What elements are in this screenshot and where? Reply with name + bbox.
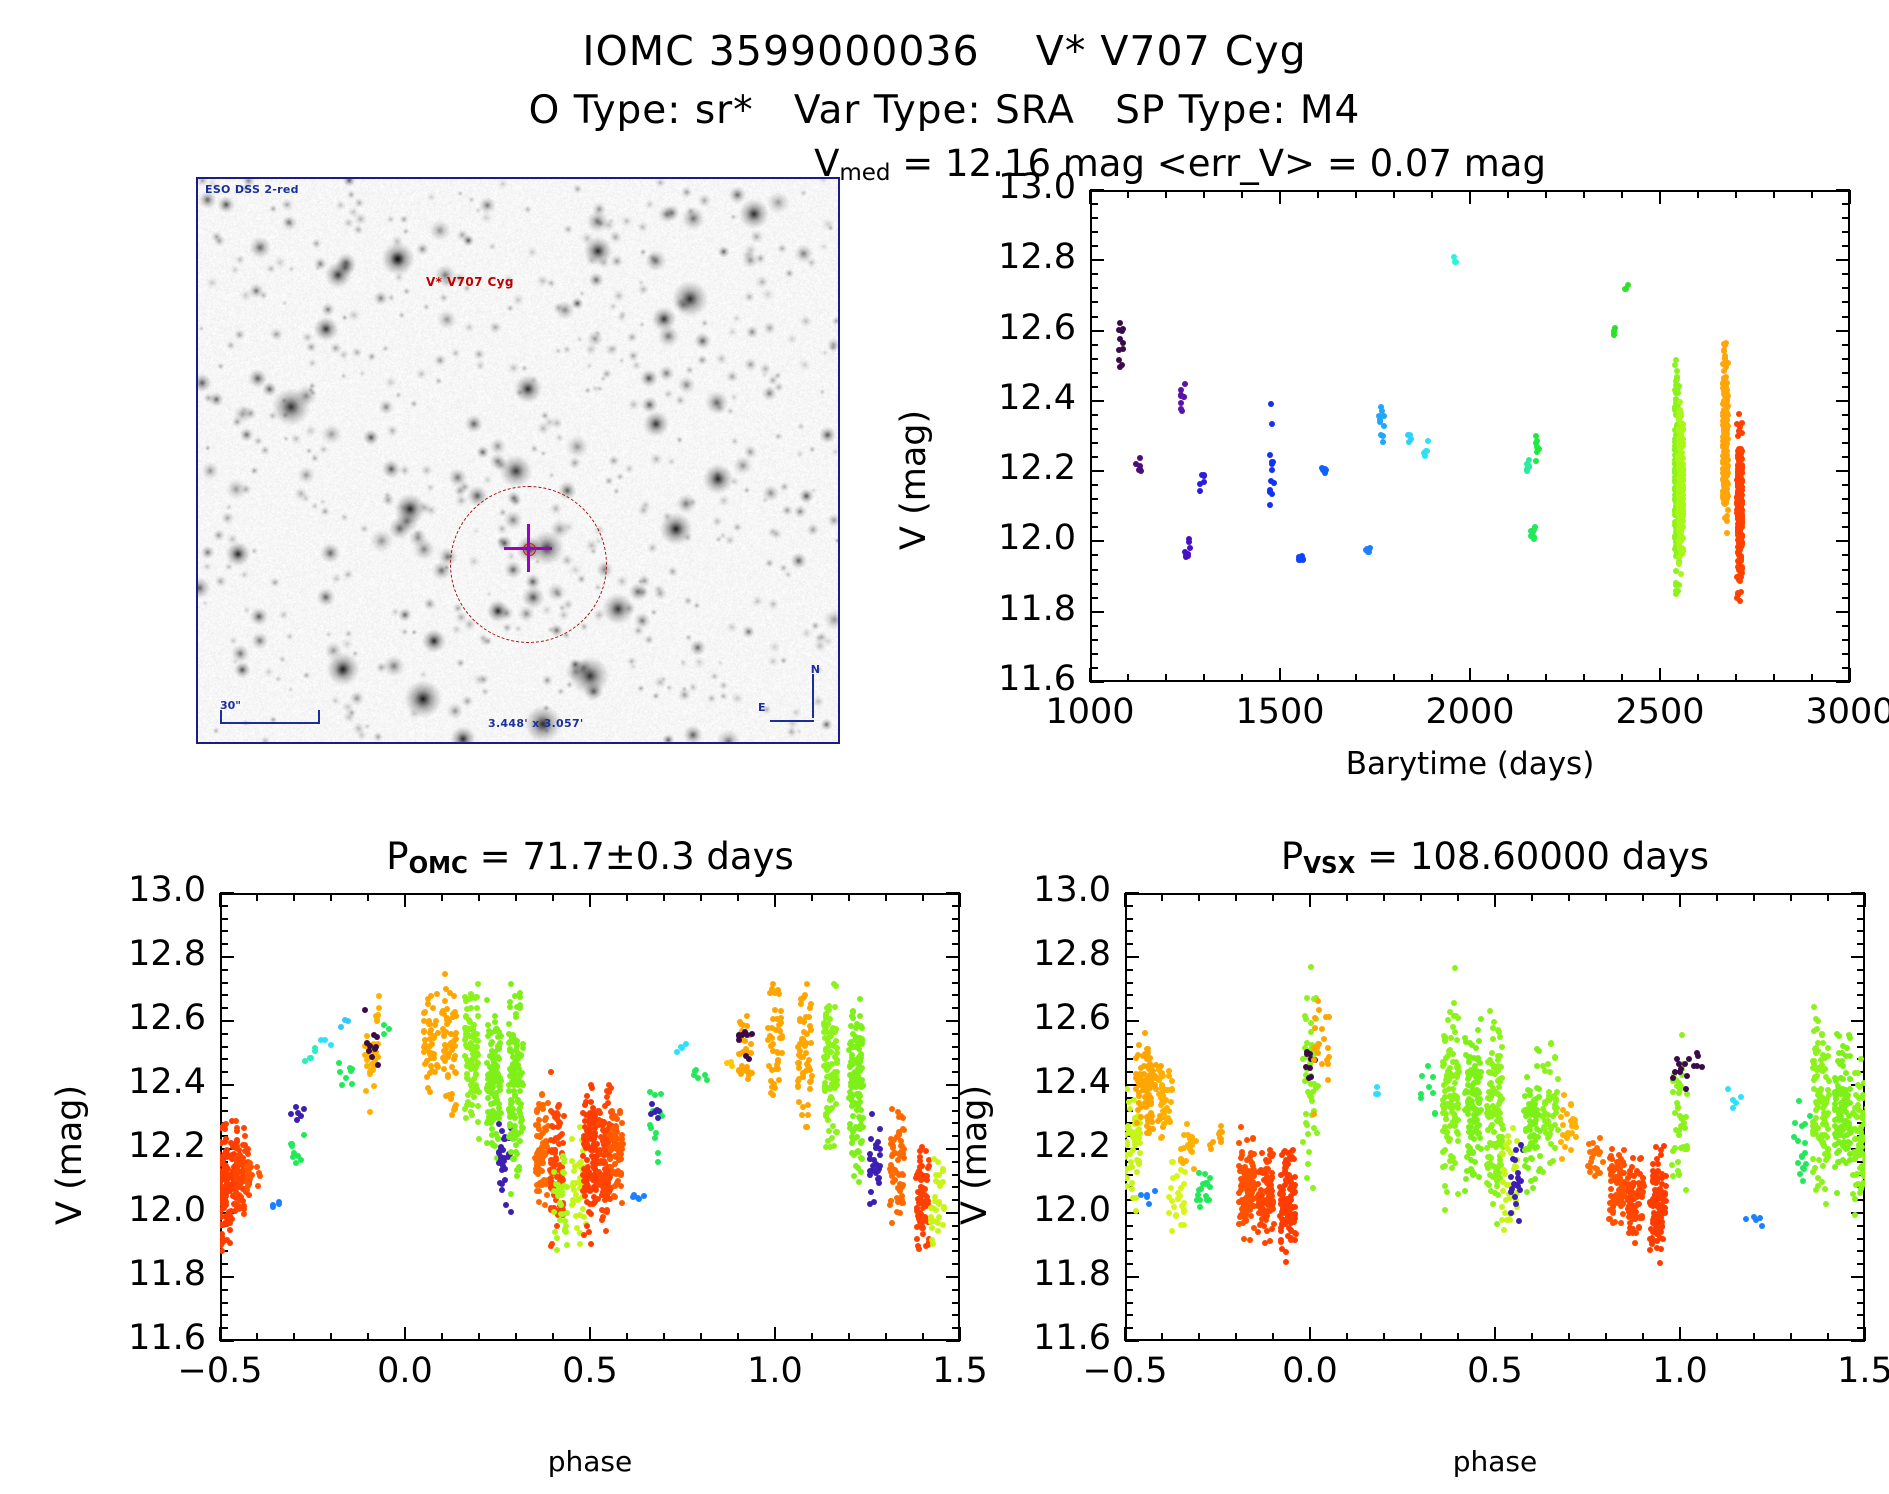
data-point xyxy=(724,1060,730,1066)
data-point xyxy=(1267,1152,1273,1158)
data-point xyxy=(796,1052,802,1058)
data-point xyxy=(1304,1175,1310,1181)
data-point xyxy=(1494,1183,1500,1189)
data-point xyxy=(823,1013,829,1019)
data-point xyxy=(778,1015,784,1021)
data-point xyxy=(1266,1185,1272,1191)
data-point xyxy=(1326,1054,1332,1060)
data-point xyxy=(857,1068,863,1074)
data-point xyxy=(571,1187,577,1193)
data-point-layer xyxy=(1090,190,1850,682)
data-point xyxy=(1286,1225,1292,1231)
data-point xyxy=(772,1007,778,1013)
data-point xyxy=(1315,998,1321,1004)
data-point xyxy=(1476,1174,1482,1180)
data-point xyxy=(1270,1199,1276,1205)
data-point xyxy=(875,1168,881,1174)
data-point xyxy=(227,1227,233,1233)
compass-east-label: E xyxy=(758,701,766,714)
data-point xyxy=(1531,536,1537,542)
data-point xyxy=(1452,1120,1458,1126)
data-point xyxy=(1736,411,1742,417)
data-point xyxy=(1196,1170,1202,1176)
data-point xyxy=(488,1101,494,1107)
data-point xyxy=(1660,1236,1666,1242)
data-point xyxy=(1634,1202,1640,1208)
data-point xyxy=(1148,1101,1154,1107)
data-point xyxy=(1490,1036,1496,1042)
data-point xyxy=(1724,518,1730,524)
data-point xyxy=(918,1177,924,1183)
phase-omc-title-prefix: P xyxy=(386,835,408,878)
data-point xyxy=(1432,1111,1438,1117)
data-point xyxy=(507,1114,513,1120)
data-point xyxy=(1303,1111,1309,1117)
data-point xyxy=(516,1066,522,1072)
data-point xyxy=(573,1213,579,1219)
data-point xyxy=(517,1138,523,1144)
data-point xyxy=(1495,1068,1501,1074)
data-point xyxy=(514,1173,520,1179)
data-point xyxy=(1307,1051,1313,1057)
data-point xyxy=(475,981,481,987)
data-point xyxy=(561,1113,567,1119)
x-axis-tick-label: 0.5 xyxy=(1415,1351,1575,1391)
data-point xyxy=(1325,1077,1331,1083)
data-point xyxy=(1321,1036,1327,1042)
data-point xyxy=(1144,1089,1150,1095)
data-point xyxy=(1168,1099,1174,1105)
data-point xyxy=(829,1096,835,1102)
data-point xyxy=(1444,1079,1450,1085)
data-point xyxy=(342,1017,348,1023)
data-point xyxy=(876,1175,882,1181)
x-axis-tick-label: 0.0 xyxy=(1230,1351,1390,1391)
data-point xyxy=(1545,1061,1551,1067)
data-point xyxy=(220,1238,226,1244)
data-point xyxy=(558,1190,564,1196)
data-point xyxy=(1189,1141,1195,1147)
data-point xyxy=(1526,457,1532,463)
y-axis-tick-label: 12.4 xyxy=(880,378,1076,418)
data-point xyxy=(1166,1210,1172,1216)
data-point xyxy=(652,1109,658,1115)
data-point xyxy=(1442,1147,1448,1153)
data-point xyxy=(1609,1146,1615,1152)
data-point xyxy=(434,991,440,997)
data-point xyxy=(806,1014,812,1020)
data-point xyxy=(1126,1099,1132,1105)
data-point xyxy=(850,1136,856,1142)
data-point xyxy=(1658,1152,1664,1158)
data-point xyxy=(832,1004,838,1010)
page-title: IOMC 3599000036 V* V707 Cyg xyxy=(0,20,1889,82)
data-point xyxy=(427,1070,433,1076)
data-point xyxy=(467,1019,473,1025)
data-point xyxy=(338,1024,344,1030)
data-point xyxy=(1127,1106,1133,1112)
data-point xyxy=(536,1199,542,1205)
data-point xyxy=(1268,478,1274,484)
data-point xyxy=(540,1130,546,1136)
data-point xyxy=(736,1051,742,1057)
data-point xyxy=(804,1124,810,1130)
data-point xyxy=(425,1085,431,1091)
data-point xyxy=(1283,1259,1289,1265)
data-point xyxy=(510,1054,516,1060)
data-point xyxy=(1676,409,1682,415)
data-point xyxy=(1486,1182,1492,1188)
data-point xyxy=(1455,1138,1461,1144)
data-point xyxy=(1721,368,1727,374)
data-point xyxy=(1325,1045,1331,1051)
data-point xyxy=(1246,1182,1252,1188)
data-point xyxy=(1524,1074,1530,1080)
data-point xyxy=(301,1106,307,1112)
data-point xyxy=(1447,1123,1453,1129)
data-point xyxy=(1542,1126,1548,1132)
data-point xyxy=(583,1112,589,1118)
data-point xyxy=(367,1071,373,1077)
data-point xyxy=(619,1120,625,1126)
data-point xyxy=(858,1107,864,1113)
data-point xyxy=(519,1117,525,1123)
data-point xyxy=(233,1177,239,1183)
data-point xyxy=(487,1053,493,1059)
data-point xyxy=(1737,557,1743,563)
data-point xyxy=(508,981,514,987)
data-point xyxy=(856,1179,862,1185)
data-point xyxy=(1197,488,1203,494)
data-point xyxy=(1136,1042,1142,1048)
data-point xyxy=(1448,1035,1454,1041)
data-point xyxy=(898,1113,904,1119)
data-point xyxy=(1586,1141,1592,1147)
data-point xyxy=(1132,1142,1138,1148)
data-point xyxy=(571,1168,577,1174)
data-point xyxy=(469,1088,475,1094)
data-point xyxy=(807,1005,813,1011)
data-point xyxy=(1312,1025,1318,1031)
data-point xyxy=(1487,1154,1493,1160)
data-point xyxy=(1302,1013,1308,1019)
data-point xyxy=(485,1022,491,1028)
data-point xyxy=(515,1097,521,1103)
data-point xyxy=(1679,551,1685,557)
data-point xyxy=(1264,1228,1270,1234)
data-point xyxy=(770,1092,776,1098)
data-point xyxy=(825,1109,831,1115)
data-point xyxy=(1559,1156,1565,1162)
data-point xyxy=(1499,1075,1505,1081)
data-point xyxy=(1640,1180,1646,1186)
data-point xyxy=(1306,1149,1312,1155)
data-point xyxy=(492,1013,498,1019)
data-point xyxy=(1505,1133,1511,1139)
data-point xyxy=(1168,1185,1174,1191)
data-point xyxy=(606,1176,612,1182)
data-point xyxy=(736,1033,742,1039)
data-point xyxy=(1159,1082,1165,1088)
data-point xyxy=(1572,1117,1578,1123)
data-point xyxy=(1292,1189,1298,1195)
data-point xyxy=(550,1124,556,1130)
data-point xyxy=(1677,399,1683,405)
data-point xyxy=(1308,964,1314,970)
data-point xyxy=(1674,368,1680,374)
data-point xyxy=(807,1086,813,1092)
data-point xyxy=(1117,336,1123,342)
data-point xyxy=(1375,1091,1381,1097)
data-point xyxy=(914,1236,920,1242)
x-axis-tick-label: 0.5 xyxy=(510,1351,670,1391)
data-point xyxy=(800,1074,806,1080)
data-point xyxy=(1488,1094,1494,1100)
target-marker-icon xyxy=(523,543,536,556)
data-point xyxy=(858,1140,864,1146)
data-point xyxy=(489,1090,495,1096)
data-point xyxy=(1454,1037,1460,1043)
data-point xyxy=(255,1183,261,1189)
data-point xyxy=(449,1112,455,1118)
data-point xyxy=(1130,1195,1136,1201)
data-point xyxy=(590,1175,596,1181)
compass-rose-icon: N E xyxy=(762,666,822,728)
data-point xyxy=(857,996,863,1002)
data-point xyxy=(1523,1108,1529,1114)
data-point xyxy=(484,997,490,1003)
data-point xyxy=(1610,1220,1616,1226)
data-point xyxy=(421,1010,427,1016)
data-point xyxy=(1300,1139,1306,1145)
data-point xyxy=(233,1118,239,1124)
data-point xyxy=(924,1177,930,1183)
data-point xyxy=(1524,1189,1530,1195)
data-point xyxy=(581,1214,587,1220)
data-point xyxy=(825,1138,831,1144)
data-point xyxy=(453,1030,459,1036)
data-point xyxy=(889,1106,895,1112)
data-point xyxy=(1236,1190,1242,1196)
data-point xyxy=(1735,481,1741,487)
data-point xyxy=(1564,1135,1570,1141)
data-point xyxy=(543,1115,549,1121)
data-point xyxy=(1405,432,1411,438)
data-point xyxy=(1158,1095,1164,1101)
data-point xyxy=(1501,1227,1507,1233)
data-point xyxy=(1507,1217,1513,1223)
data-point xyxy=(516,1167,522,1173)
field-size-label: 3.448' x 3.057' xyxy=(488,717,584,730)
data-point xyxy=(1125,1152,1129,1158)
data-point xyxy=(1475,1027,1481,1033)
data-point xyxy=(1181,1132,1187,1138)
data-point xyxy=(1240,1212,1246,1218)
data-point xyxy=(833,983,839,989)
data-point xyxy=(1466,1059,1472,1065)
data-point xyxy=(1534,449,1540,455)
data-point xyxy=(1278,1172,1284,1178)
data-point xyxy=(1129,1180,1135,1186)
data-point xyxy=(560,1184,566,1190)
data-point xyxy=(1133,1055,1139,1061)
data-point xyxy=(490,1078,496,1084)
data-point xyxy=(520,1082,526,1088)
data-point xyxy=(825,1117,831,1123)
data-point xyxy=(1512,1157,1518,1163)
data-point xyxy=(877,1126,883,1132)
data-point xyxy=(560,1169,566,1175)
data-point xyxy=(1288,1197,1294,1203)
data-point xyxy=(612,1161,618,1167)
data-point xyxy=(488,1120,494,1126)
data-point xyxy=(1600,1159,1606,1165)
data-point xyxy=(1723,415,1729,421)
data-point xyxy=(1175,1196,1181,1202)
scale-bar-icon xyxy=(220,710,320,724)
data-point xyxy=(1608,1186,1614,1192)
data-point xyxy=(937,1181,943,1187)
data-point xyxy=(517,1073,523,1079)
data-point xyxy=(1269,421,1275,427)
data-point xyxy=(1676,561,1682,567)
data-point xyxy=(1597,1135,1603,1141)
data-point xyxy=(795,1060,801,1066)
data-point xyxy=(328,1042,334,1048)
data-point xyxy=(655,1159,661,1165)
data-point xyxy=(1424,448,1430,454)
data-point xyxy=(1268,401,1274,407)
data-point xyxy=(877,1152,883,1158)
data-point xyxy=(1270,459,1276,465)
data-point xyxy=(1299,553,1305,559)
data-point xyxy=(602,1103,608,1109)
data-point xyxy=(1178,387,1184,393)
data-point xyxy=(1134,1169,1140,1175)
data-point xyxy=(776,1077,782,1083)
data-point xyxy=(856,1091,862,1097)
data-point xyxy=(674,1049,680,1055)
data-point xyxy=(1445,1017,1451,1023)
data-point xyxy=(499,1187,505,1193)
data-point xyxy=(851,1152,857,1158)
data-point xyxy=(1513,1201,1519,1207)
data-point xyxy=(1129,1186,1135,1192)
compass-east-line xyxy=(770,720,814,722)
data-point xyxy=(869,1111,875,1117)
figure-header: IOMC 3599000036 V* V707 Cyg O Type: sr* … xyxy=(0,20,1889,140)
data-point xyxy=(1630,1155,1636,1161)
data-point xyxy=(1618,1220,1624,1226)
data-point xyxy=(1255,1229,1261,1235)
data-point xyxy=(1256,1210,1262,1216)
data-point xyxy=(1378,432,1384,438)
data-point xyxy=(1528,1178,1534,1184)
data-point xyxy=(858,1084,864,1090)
data-point xyxy=(430,1005,436,1011)
data-point xyxy=(595,1121,601,1127)
data-point xyxy=(221,1202,227,1208)
data-point xyxy=(1679,494,1685,500)
data-point xyxy=(554,1235,560,1241)
data-point xyxy=(448,1096,454,1102)
data-point xyxy=(520,1045,526,1051)
data-point xyxy=(1267,452,1273,458)
y-axis-tick-label: 12.0 xyxy=(915,1190,1111,1230)
data-point xyxy=(584,1141,590,1147)
data-point xyxy=(618,1183,624,1189)
data-point xyxy=(1381,423,1387,429)
data-point xyxy=(463,1115,469,1121)
data-point xyxy=(242,1133,248,1139)
data-point xyxy=(563,1229,569,1235)
data-point xyxy=(1278,1197,1284,1203)
data-point xyxy=(1540,1169,1546,1175)
data-point xyxy=(468,1109,474,1115)
data-point xyxy=(1678,420,1684,426)
data-point xyxy=(1478,1016,1484,1022)
data-point xyxy=(1443,1111,1449,1117)
data-point xyxy=(464,1071,470,1077)
data-point xyxy=(833,1129,839,1135)
data-point xyxy=(293,1104,299,1110)
data-point xyxy=(1236,1140,1242,1146)
y-axis-tick-label: 12.0 xyxy=(880,518,1076,558)
data-point xyxy=(476,1136,482,1142)
data-point xyxy=(569,1136,575,1142)
data-point xyxy=(604,1088,610,1094)
data-point xyxy=(1258,1187,1264,1193)
data-point xyxy=(1279,1246,1285,1252)
data-point xyxy=(257,1173,263,1179)
data-point xyxy=(536,1101,542,1107)
data-point xyxy=(1516,1218,1522,1224)
data-point xyxy=(1284,1179,1290,1185)
data-point xyxy=(1722,356,1728,362)
data-point xyxy=(422,1061,428,1067)
data-point xyxy=(851,1173,857,1179)
data-point xyxy=(511,1036,517,1042)
data-point xyxy=(618,1156,624,1162)
data-point xyxy=(1638,1155,1644,1161)
data-point xyxy=(604,1207,610,1213)
data-point xyxy=(600,1214,606,1220)
data-point xyxy=(1210,1139,1216,1145)
data-point xyxy=(833,1101,839,1107)
y-axis-tick-label: 11.6 xyxy=(10,1318,206,1358)
data-point xyxy=(426,1021,432,1027)
y-axis-tick-label: 13.0 xyxy=(915,870,1111,910)
data-point xyxy=(369,1054,375,1060)
data-point xyxy=(1247,1237,1253,1243)
object-types-line: O Type: sr* Var Type: SRA SP Type: M4 xyxy=(0,82,1889,140)
data-point xyxy=(339,1082,345,1088)
data-point xyxy=(1463,1176,1469,1182)
data-point xyxy=(1447,1009,1453,1015)
data-point xyxy=(803,1050,809,1056)
data-point xyxy=(778,1008,784,1014)
data-point xyxy=(241,1125,247,1131)
data-point xyxy=(1197,1204,1203,1210)
data-point xyxy=(515,1131,521,1137)
data-point xyxy=(1419,1073,1425,1079)
data-point xyxy=(1137,1150,1143,1156)
data-point xyxy=(1477,1096,1483,1102)
data-point xyxy=(270,1204,276,1210)
data-point xyxy=(857,1013,863,1019)
data-point xyxy=(1678,517,1684,523)
data-point xyxy=(1236,1221,1242,1227)
